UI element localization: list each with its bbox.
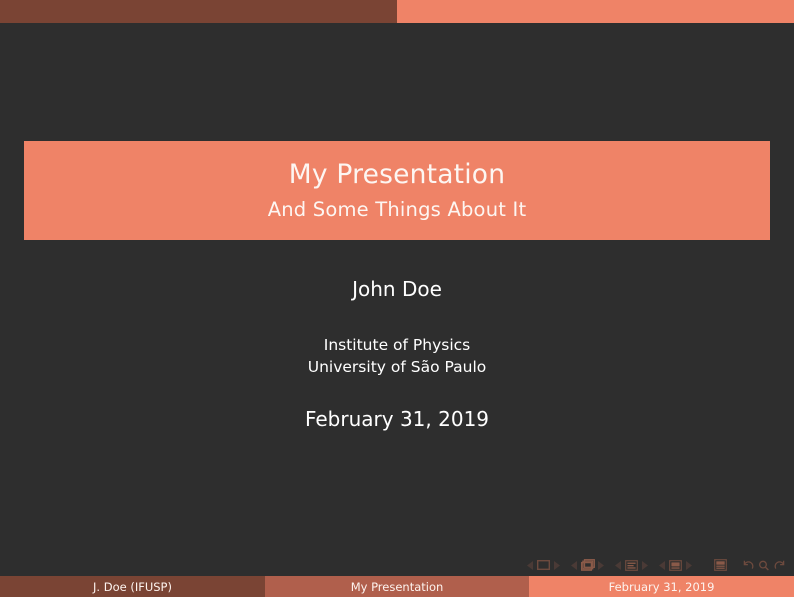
slide-icon[interactable] — [536, 558, 551, 572]
institute-block: Institute of Physics University of São P… — [0, 334, 794, 378]
section-prev-icon[interactable] — [658, 558, 667, 572]
footer-date-segment: February 31, 2019 — [529, 576, 794, 597]
frame-prev-icon[interactable] — [570, 558, 579, 572]
go-back-icon[interactable] — [741, 558, 754, 572]
go-forward-icon[interactable] — [773, 558, 786, 572]
navigation-tools-group[interactable] — [741, 558, 786, 572]
subsection-next-icon[interactable] — [640, 558, 649, 572]
author-name: John Doe — [0, 278, 794, 300]
slide-next-icon[interactable] — [552, 558, 561, 572]
footer-date-text: February 31, 2019 — [609, 580, 715, 594]
footer-author-text: J. Doe (IFUSP) — [93, 580, 172, 594]
presentation-slide: My Presentation And Some Things About It… — [0, 0, 794, 597]
section-navigation-group[interactable] — [658, 558, 693, 572]
presentation-icon[interactable] — [713, 558, 728, 572]
slide-navigation-group[interactable] — [526, 558, 561, 572]
footer-author-segment: J. Doe (IFUSP) — [0, 576, 265, 597]
frame-next-icon[interactable] — [596, 558, 605, 572]
footer-title-segment: My Presentation — [265, 576, 529, 597]
footline-bar: J. Doe (IFUSP) My Presentation February … — [0, 576, 794, 597]
subsection-navigation-group[interactable] — [614, 558, 649, 572]
footer-title-text: My Presentation — [351, 580, 444, 594]
institute-line-2: University of São Paulo — [0, 356, 794, 378]
headline-bar-right-segment — [397, 0, 794, 23]
slide-prev-icon[interactable] — [526, 558, 535, 572]
headline-bar — [0, 0, 794, 23]
date-block: February 31, 2019 — [0, 408, 794, 430]
subsection-icon[interactable] — [624, 558, 639, 572]
section-next-icon[interactable] — [684, 558, 693, 572]
title-block: My Presentation And Some Things About It — [24, 141, 770, 240]
presentation-date: February 31, 2019 — [0, 408, 794, 430]
institute-line-1: Institute of Physics — [0, 334, 794, 356]
section-icon[interactable] — [668, 558, 683, 572]
headline-bar-left-segment — [0, 0, 397, 23]
frame-icon[interactable] — [580, 558, 595, 572]
search-icon[interactable] — [757, 558, 770, 572]
presentation-navigation-group[interactable] — [712, 558, 729, 572]
subsection-prev-icon[interactable] — [614, 558, 623, 572]
frame-navigation-group[interactable] — [570, 558, 605, 572]
author-block: John Doe — [0, 278, 794, 300]
beamer-navigation-symbols[interactable] — [526, 555, 786, 575]
presentation-title: My Presentation — [289, 162, 505, 189]
presentation-subtitle: And Some Things About It — [268, 200, 527, 220]
